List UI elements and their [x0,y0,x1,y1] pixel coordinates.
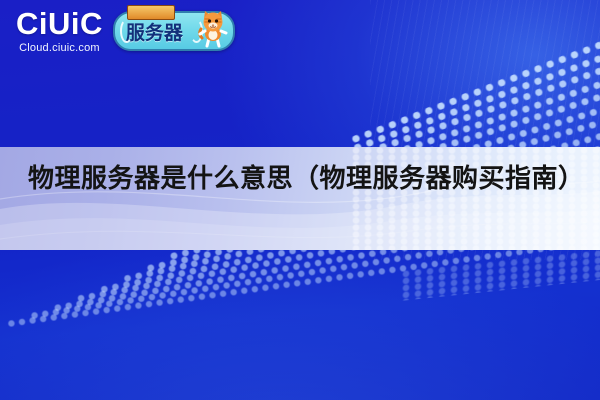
page-title: 物理服务器是什么意思（物理服务器购买指南） [28,161,576,197]
title-banner: 物理服务器是什么意思（物理服务器购买指南） [0,147,600,250]
badge-ribbon [127,5,175,20]
brand-logo[interactable]: CiUiC Cloud.ciuic.com [16,8,103,54]
brand-domain: Cloud.ciuic.com [19,43,100,54]
badge-swoosh-left-icon [120,19,133,43]
brand-wordmark: CiUiC [16,8,103,39]
server-category-badge[interactable]: 服务器 [113,11,235,51]
site-header: CiUiC Cloud.ciuic.com 服务器 [16,8,235,54]
badge-label: 服务器 [126,18,183,45]
orange-cat-mascot-icon [197,8,231,48]
article-cover-image: CiUiC Cloud.ciuic.com 服务器 [0,0,600,400]
